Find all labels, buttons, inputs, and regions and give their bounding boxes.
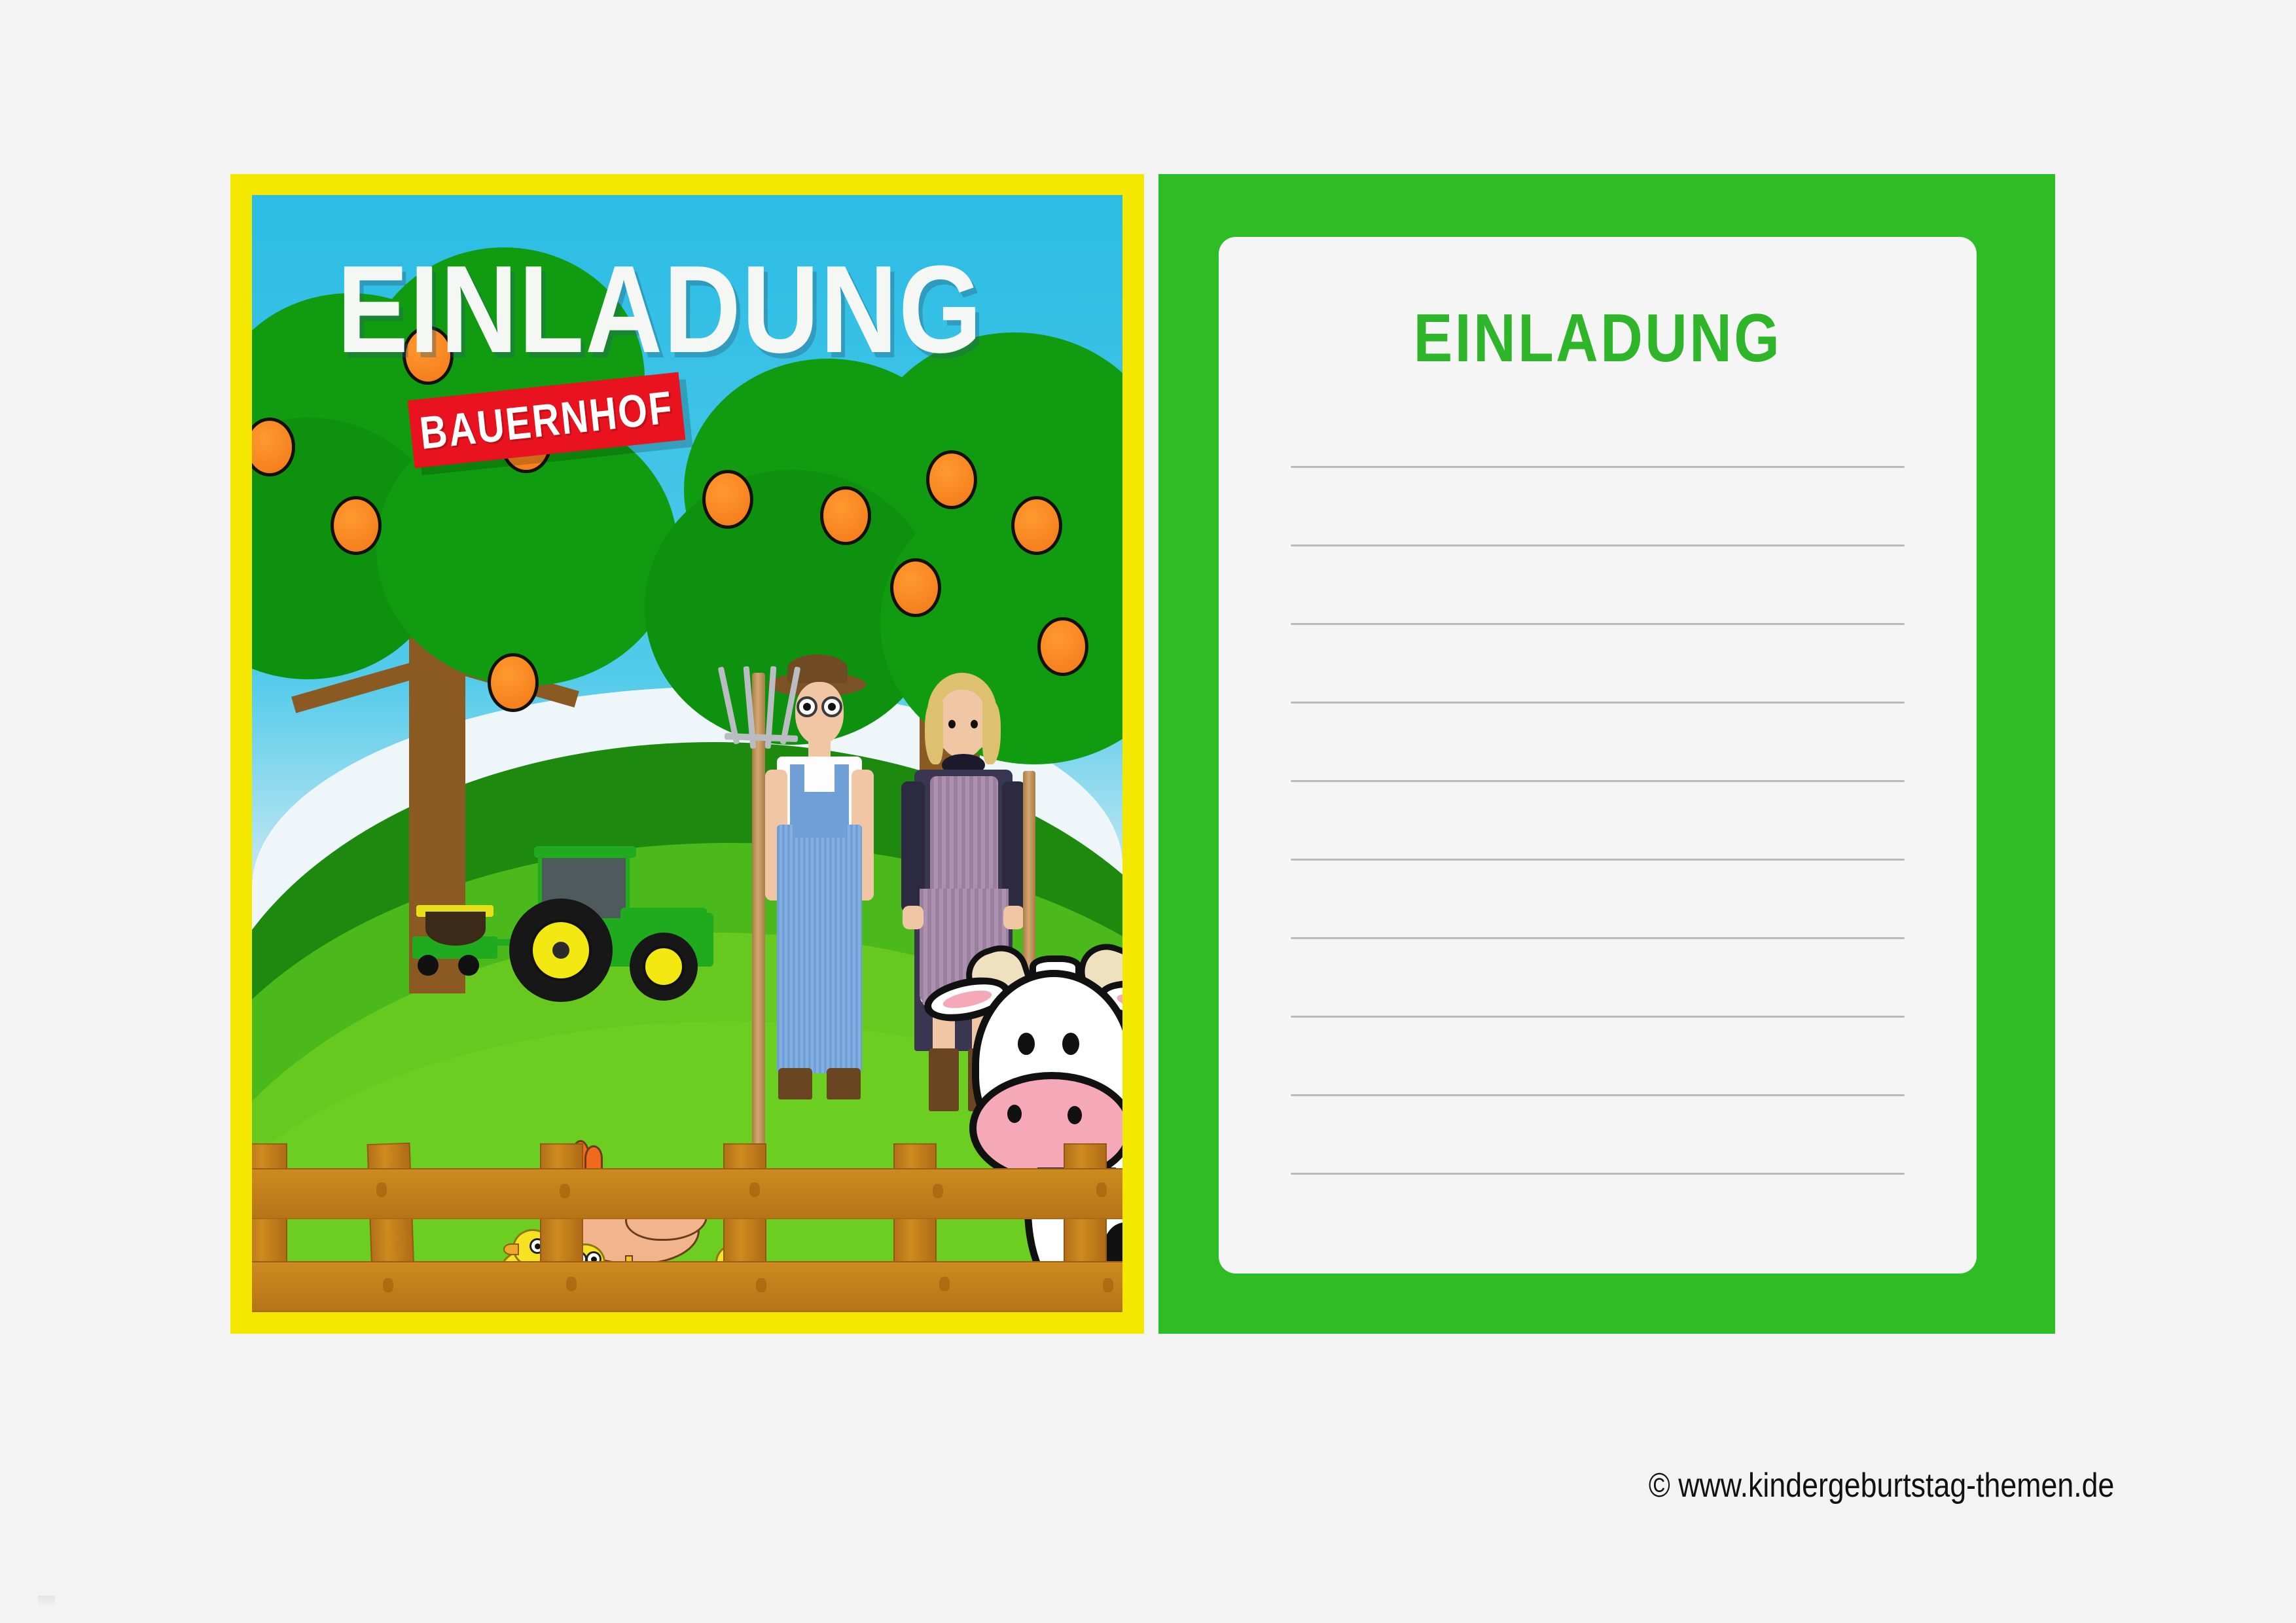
writing-lines — [1291, 466, 1905, 1251]
tractor-front-rim — [643, 946, 685, 988]
eye-right — [828, 703, 836, 711]
note-paper[interactable]: EINLADUNG — [1219, 237, 1977, 1274]
writing-line[interactable] — [1291, 859, 1905, 861]
wood-knot — [566, 1277, 577, 1291]
tree-fruit — [890, 558, 941, 617]
tractor-rear-hub — [552, 942, 569, 959]
pitchfork-head — [725, 666, 797, 751]
writing-line[interactable] — [1291, 544, 1905, 546]
tree-fruit — [820, 486, 871, 545]
wood-knot — [1096, 1183, 1107, 1197]
writing-line[interactable] — [1291, 937, 1905, 939]
spreader-wheel — [458, 955, 479, 976]
spreader-bowl — [425, 912, 486, 946]
wood-knot — [1103, 1278, 1113, 1293]
writing-line[interactable] — [1291, 623, 1905, 625]
cow-nostril-right — [1067, 1106, 1082, 1124]
cow-eye-right — [1062, 1033, 1079, 1055]
writing-line[interactable] — [1291, 1173, 1905, 1175]
note-title: EINLADUNG — [1272, 300, 1924, 378]
invitation-inside-card[interactable]: EINLADUNG — [1158, 174, 2055, 1334]
fence-rail-top — [252, 1168, 1122, 1219]
fence-rail-bottom — [252, 1261, 1122, 1312]
writing-line[interactable] — [1291, 1094, 1905, 1096]
wood-knot — [560, 1184, 570, 1198]
wooden-fence — [252, 1129, 1122, 1312]
front-headline: EINLADUNG — [337, 247, 983, 372]
head — [937, 690, 988, 758]
wood-knot — [756, 1278, 766, 1293]
fork-tine — [780, 666, 801, 745]
eye-left — [803, 703, 811, 711]
eye-left — [948, 720, 956, 728]
copyright-credit: © www.kindergeburtstag-themen.de — [1648, 1466, 2114, 1505]
cow-nostril-left — [1007, 1105, 1022, 1123]
writing-line[interactable] — [1291, 466, 1905, 468]
hair-side — [925, 702, 943, 764]
hair-side — [982, 702, 1001, 764]
writing-line[interactable] — [1291, 702, 1905, 704]
tree-fruit — [1037, 617, 1088, 676]
page-canvas: EINLADUNG BAUERNHOF EINLADUNG © w — [0, 0, 2296, 1623]
tree-fruit — [702, 470, 753, 529]
wood-knot — [383, 1278, 393, 1293]
writing-line[interactable] — [1291, 780, 1905, 782]
pitchfork — [718, 627, 803, 1164]
writing-line[interactable] — [1291, 1016, 1905, 1018]
tree-fruit — [331, 496, 382, 555]
tractor-roof — [534, 846, 636, 858]
hand-left — [903, 906, 924, 929]
tree-fruit — [926, 450, 977, 509]
wood-knot — [749, 1183, 760, 1197]
wood-knot — [933, 1184, 943, 1198]
boot-right — [827, 1068, 861, 1099]
invitation-front-card[interactable]: EINLADUNG BAUERNHOF — [230, 174, 1144, 1334]
wood-knot — [376, 1183, 387, 1197]
tree-fruit — [488, 653, 539, 712]
tree-fruit — [1011, 496, 1062, 555]
eye-right — [971, 720, 978, 728]
farm-illustration: EINLADUNG BAUERNHOF — [252, 195, 1122, 1312]
apron-top — [930, 776, 998, 907]
spreader-wheel — [418, 955, 439, 976]
cow-eye-left — [1018, 1033, 1035, 1055]
wood-knot — [939, 1277, 950, 1291]
corner-artifact — [38, 1596, 55, 1606]
